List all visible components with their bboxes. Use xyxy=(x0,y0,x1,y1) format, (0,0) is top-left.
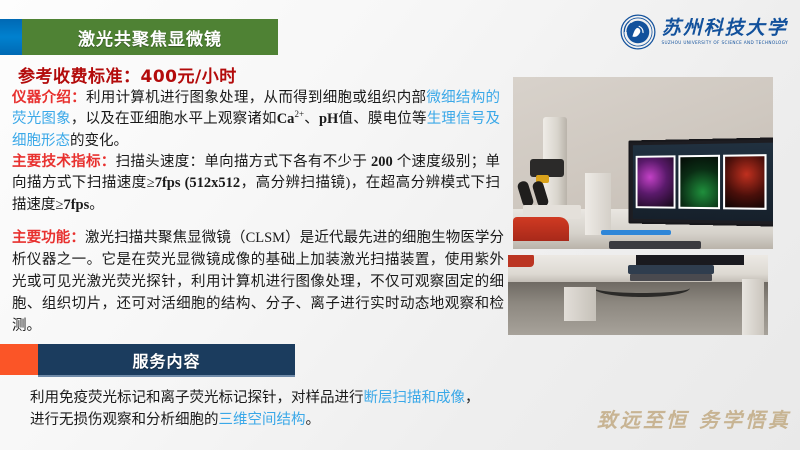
section-header-instrument: 激光共聚焦显微镜 xyxy=(0,19,278,55)
intro-seg1: 利用计算机进行图象处理，从而得到细胞或组织内部 xyxy=(86,90,426,106)
university-motto: 致远至恒 务学悟真 xyxy=(596,404,792,438)
intro-seg9: 的变化。 xyxy=(70,133,128,149)
main-function-block: 主要功能：激光扫描共聚焦显微镜（CLSM）是近代最先进的细胞生物医学分析仪器之一… xyxy=(12,227,504,337)
service-seg1: 利用免疫荧光标记和离子荧光标记探针，对样品进行 xyxy=(30,390,364,406)
monitor-bottom-edge xyxy=(636,255,744,265)
microscope-red-base xyxy=(513,217,569,241)
specs-speed-levels: 200 xyxy=(371,154,393,170)
logo-wordmark: 苏州科技大学 SUZHOU UNIVERSITY OF SCIENCE AND … xyxy=(662,19,788,46)
intro-calcium: Ca xyxy=(277,111,295,127)
intro-ph: pH xyxy=(319,111,338,127)
header-green-body: 激光共聚焦显微镜 xyxy=(22,19,278,55)
keyboard xyxy=(609,241,701,249)
function-label: 主要功能： xyxy=(12,230,85,246)
instrument-tower xyxy=(585,173,611,235)
confocal-microscope-workstation-photo xyxy=(513,77,773,249)
fluorescence-green-image xyxy=(681,157,719,206)
service-seg4-highlight: 三维空间结构 xyxy=(219,412,306,428)
suzhou-university-emblem-icon xyxy=(620,14,656,50)
function-paragraph: 主要功能：激光扫描共聚焦显微镜（CLSM）是近代最先进的细胞生物医学分析仪器之一… xyxy=(12,227,504,337)
page-title: 激光共聚焦显微镜 xyxy=(78,25,222,50)
service-paragraph: 利用免疫荧光标记和离子荧光标记探针，对样品进行断层扫描和成像，进行无损伤观察和分… xyxy=(30,388,490,432)
section-header-service: 服务内容 xyxy=(0,344,295,375)
service-title: 服务内容 xyxy=(132,348,200,372)
specs-seg1: 扫描头速度：单向描方式下各有不少于 xyxy=(116,154,371,170)
fluorescence-image-tile-1 xyxy=(636,156,676,208)
photo-top-scene xyxy=(513,77,773,249)
monitor-screen xyxy=(633,143,773,222)
photo-bottom-scene xyxy=(508,255,768,335)
intro-seg3: ，以及在亚细胞水平上观察诸如 xyxy=(71,111,277,127)
logo-name-cn: 苏州科技大学 xyxy=(662,19,788,39)
service-seg5: 。 xyxy=(306,412,321,428)
service-seg2-highlight: 断层扫描和成像 xyxy=(364,390,466,406)
service-underline-rule xyxy=(38,375,295,377)
specs-paragraph: 主要技术指标：扫描头速度：单向描方式下各有不少于 200 个速度级别；单向描方式… xyxy=(12,152,500,216)
control-panel-unit xyxy=(628,265,714,274)
specs-fps-super: 7fps xyxy=(63,197,89,213)
header-blue-accent xyxy=(0,19,22,55)
cable-bundle xyxy=(594,279,690,297)
specs-seg7: 。 xyxy=(89,197,104,213)
service-navy-body: 服务内容 xyxy=(38,344,295,375)
university-logo: 苏州科技大学 SUZHOU UNIVERSITY OF SCIENCE AND … xyxy=(620,10,788,54)
service-orange-accent xyxy=(0,344,38,375)
fluorescence-image-tile-2 xyxy=(679,155,721,209)
service-description-block: 利用免疫荧光标记和离子荧光标记探针，对样品进行断层扫描和成像，进行无损伤观察和分… xyxy=(30,388,490,432)
specs-label: 主要技术指标： xyxy=(12,154,116,170)
fluorescence-red-image xyxy=(725,157,765,208)
instrument-description-block: 仪器介绍：利用计算机进行图象处理，从而得到细胞或组织内部微细结构的荧光图象，以及… xyxy=(12,88,500,216)
laboratory-bench-equipment-photo xyxy=(508,255,768,335)
microscope-base-edge xyxy=(508,255,534,267)
logo-name-en: SUZHOU UNIVERSITY OF SCIENCE AND TECHNOL… xyxy=(662,40,788,45)
price-standard-line: 参考收费标准：400元/小时 xyxy=(18,62,237,87)
slide-canvas: 激光共聚焦显微镜 苏州科技大学 SUZHOU UNIVERSITY OF SCI… xyxy=(0,0,800,450)
function-body: 激光扫描共聚焦显微镜（CLSM）是近代最先进的细胞生物医学分析仪器之一。它是在荧… xyxy=(12,230,504,334)
monitor-blue-taskbar xyxy=(601,230,671,235)
specs-fps-res: 7fps (512x512 xyxy=(155,175,240,191)
desk-leg-right xyxy=(742,279,764,335)
fluorescence-magenta-image xyxy=(638,158,674,206)
controller-box xyxy=(564,287,596,321)
fluorescence-image-tile-3 xyxy=(723,155,767,210)
intro-seg5: 、 xyxy=(304,111,319,127)
computer-monitor xyxy=(628,137,773,226)
intro-calcium-charge: 2+ xyxy=(294,109,304,119)
intro-label: 仪器介绍： xyxy=(12,90,86,106)
intro-seg7: 值、膜电位等 xyxy=(338,111,426,127)
intro-paragraph: 仪器介绍：利用计算机进行图象处理，从而得到细胞或组织内部微细结构的荧光图象，以及… xyxy=(12,88,500,152)
